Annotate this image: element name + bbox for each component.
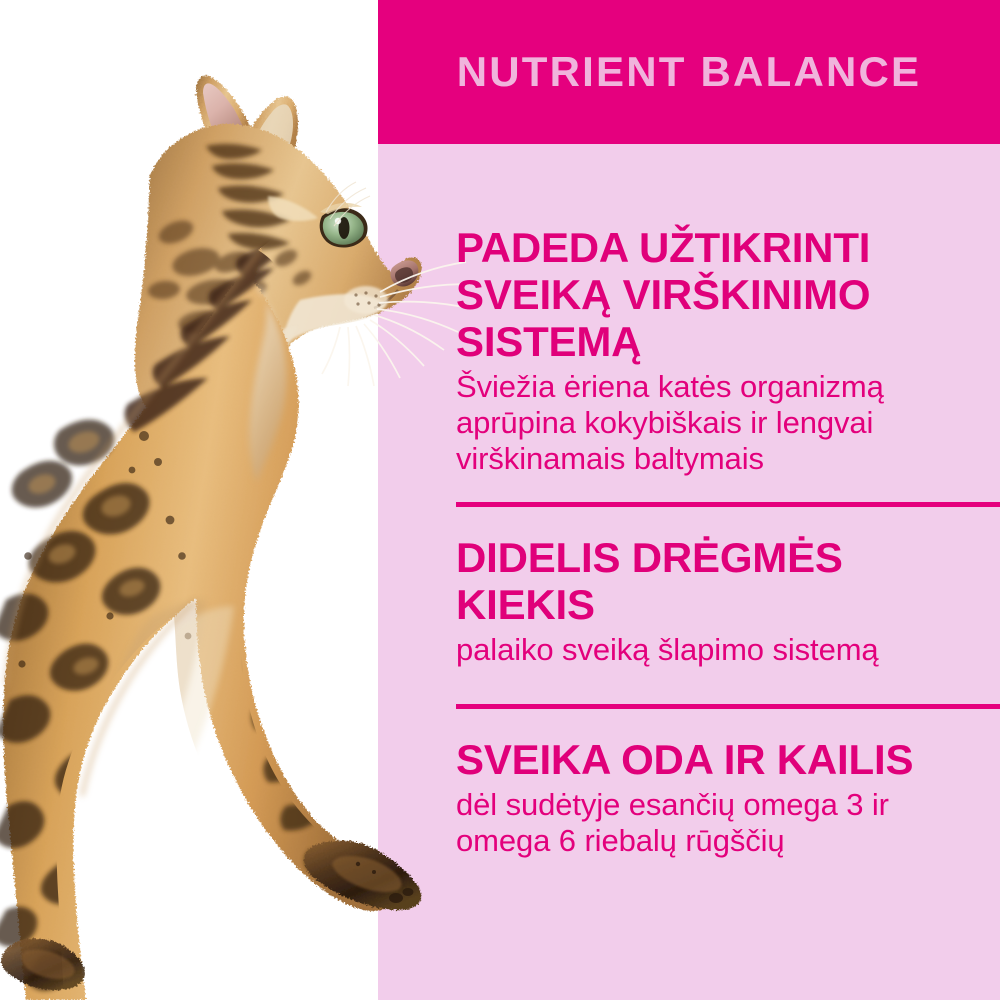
section-divider-1 <box>456 502 1000 507</box>
benefit-body: Šviežia ėriena katės organizmą aprūpina … <box>456 369 956 477</box>
section-divider-2 <box>456 704 1000 709</box>
benefit-heading: DIDELIS DRĖGMĖS KIEKIS <box>456 534 956 628</box>
benefit-body: palaiko sveiką šlapimo sistemą <box>456 632 956 668</box>
benefit-section-skin-coat: SVEIKA ODA IR KAILIS dėl sudėtyje esanči… <box>456 736 956 859</box>
cat-rear-paw <box>1 939 85 991</box>
cat-eye <box>320 203 368 248</box>
benefit-body: dėl sudėtyje esančių omega 3 ir omega 6 … <box>456 787 956 859</box>
benefit-section-moisture: DIDELIS DRĖGMĖS KIEKIS palaiko sveiką šl… <box>456 534 956 668</box>
benefit-heading: PADEDA UŽTIKRINTI SVEIKĄ VIRŠKINIMO SIST… <box>456 224 956 365</box>
cat-body <box>0 242 421 1000</box>
page-title: NUTRIENT BALANCE <box>378 0 1000 144</box>
benefits-list: PADEDA UŽTIKRINTI SVEIKĄ VIRŠKINIMO SIST… <box>456 144 1000 1000</box>
promotional-banner: NUTRIENT BALANCE <box>0 0 1000 1000</box>
benefit-section-digestion: PADEDA UŽTIKRINTI SVEIKĄ VIRŠKINIMO SIST… <box>456 224 956 477</box>
benefit-heading: SVEIKA ODA IR KAILIS <box>456 736 956 783</box>
